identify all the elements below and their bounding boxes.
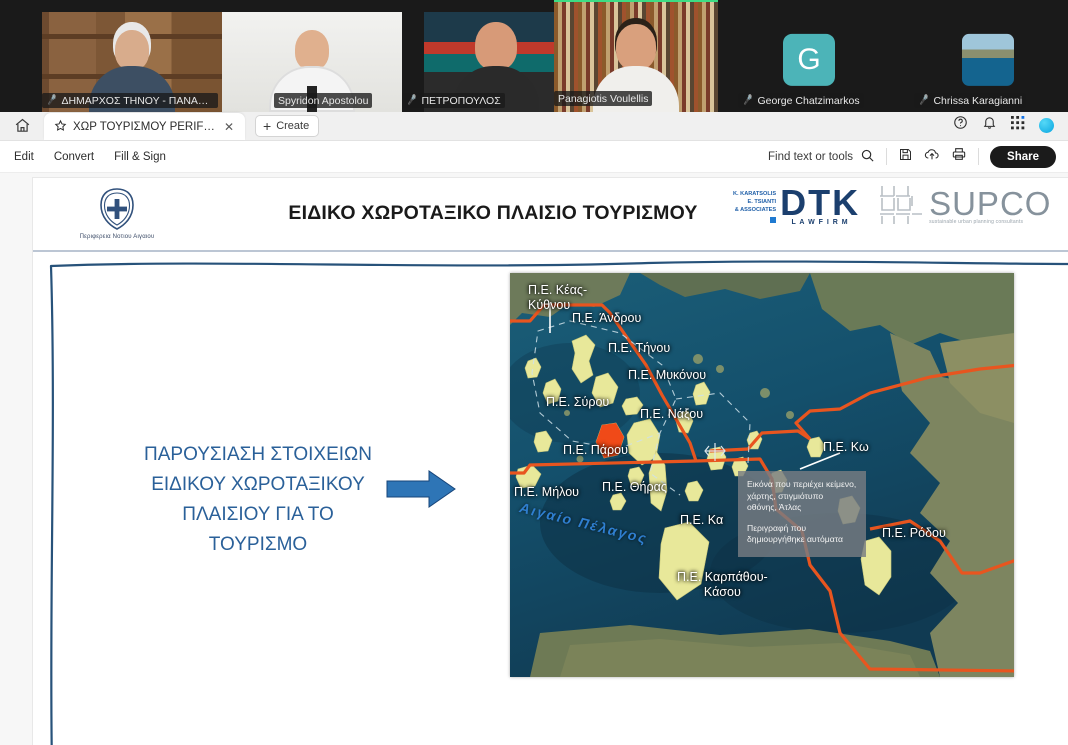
participant-tile[interactable]: 🎤 ΠΕΤΡΟΠΟΥΛΟΣ xyxy=(402,0,554,112)
participant-namebar: Spyridon Apostolou xyxy=(274,93,372,108)
participant-tile[interactable]: G 🎤 George Chatzimarkos xyxy=(718,0,900,112)
participant-namebar: 🎤 ΠΕΤΡΟΠΟΥΛΟΣ xyxy=(402,93,505,108)
participant-tile[interactable]: Spyridon Apostolou xyxy=(222,0,402,112)
aegean-map-image[interactable]: Π.Ε. Κέας-Κύθνου Π.Ε. Άνδρου Π.Ε. Τήνου … xyxy=(510,273,1014,677)
avatar: G xyxy=(783,34,835,86)
video-conference-strip: 🎤 ΔΗΜΑΡΧΟΣ ΤΗΝΟΥ - ΠΑΝΑΓΙΩΤ… Spyridon Ap… xyxy=(0,0,1068,112)
map-label: Π.Ε. Μήλου xyxy=(514,485,579,499)
dtk-line-2: E. TSIANTI xyxy=(733,198,776,206)
print-icon[interactable] xyxy=(951,146,967,167)
participant-namebar: 🎤 Chrissa Karagianni xyxy=(914,93,1026,108)
strip-left-gutter xyxy=(0,0,42,112)
star-icon[interactable] xyxy=(54,119,67,135)
toolbar-divider xyxy=(886,148,887,165)
crest-caption: Περιφερεια Νοτιου Αιγαιου xyxy=(78,234,156,240)
header-divider xyxy=(33,250,1068,252)
map-label: Π.Ε. Πάρου xyxy=(563,443,628,457)
map-label: Π.Ε. Σύρου xyxy=(546,395,609,409)
participant-name: George Chatzimarkos xyxy=(757,95,859,107)
greek-coat-of-arms: Περιφερεια Νοτιου Αιγαιου xyxy=(78,187,156,240)
pdf-page: Περιφερεια Νοτιου Αιγαιου ΕΙΔΙΚΟ ΧΩΡΟΤΑΞ… xyxy=(33,178,1068,745)
browser-tabbar: ΧΩΡ ΤΟΥΡΙΣΜΟΥ PERIF… ✕ + Create xyxy=(0,112,1068,141)
participant-tile-active[interactable]: Panagiotis Voulellis xyxy=(554,0,718,112)
cloud-upload-icon[interactable] xyxy=(924,146,940,167)
create-label: Create xyxy=(276,120,309,132)
create-button[interactable]: + Create xyxy=(255,115,319,137)
tool-edit[interactable]: Edit xyxy=(0,151,44,163)
home-icon[interactable] xyxy=(0,111,44,140)
tool-convert[interactable]: Convert xyxy=(44,151,104,163)
map-label: Π.Ε. Νάξου xyxy=(640,407,703,421)
mic-muted-icon: 🎤 xyxy=(744,95,753,106)
body-line: ΠΑΡΟΥΣΙΑΣΗ ΣΤΟΙΧΕΙΩΝ xyxy=(103,440,413,470)
map-label: Π.Ε. Μυκόνου xyxy=(628,368,706,382)
slide-header: Περιφερεια Νοτιου Αιγαιου ΕΙΔΙΚΟ ΧΩΡΟΤΑΞ… xyxy=(33,178,1068,250)
account-avatar[interactable] xyxy=(1039,118,1054,133)
image-alt-text-tooltip: Εικόνα που περιέχει κείμενο, χάρτης, στι… xyxy=(738,471,866,557)
save-icon[interactable] xyxy=(898,147,913,167)
body-line: ΠΛΑΙΣΙΟΥ ΓΙΑ ΤΟ xyxy=(103,500,413,530)
supcon-logo: SUPCO sustainable urban planning consult… xyxy=(878,184,1051,228)
participant-name: ΠΕΤΡΟΠΟΥΛΟΣ xyxy=(421,95,500,107)
participant-name: Panagiotis Voulellis xyxy=(558,93,648,105)
mic-muted-icon: 🎤 xyxy=(920,95,929,106)
participant-name: Spyridon Apostolou xyxy=(278,95,368,107)
tooltip-line: χάρτης, στιγμιότυπο xyxy=(747,491,857,503)
toolbar-divider xyxy=(978,148,979,165)
participant-namebar: 🎤 ΔΗΜΑΡΧΟΣ ΤΗΝΟΥ - ΠΑΝΑΓΙΩΤ… xyxy=(42,93,218,108)
dtk-line-1: K. KARATSOLIS xyxy=(733,190,776,198)
participant-tile[interactable]: 🎤 ΔΗΜΑΡΧΟΣ ΤΗΝΟΥ - ΠΑΝΑΓΙΩΤ… xyxy=(42,0,222,112)
participant-name: ΔΗΜΑΡΧΟΣ ΤΗΝΟΥ - ΠΑΝΑΓΙΩΤ… xyxy=(61,95,214,107)
mic-muted-icon: 🎤 xyxy=(408,95,417,106)
app-grid-icon[interactable] xyxy=(1011,116,1025,135)
pdf-viewer[interactable]: Περιφερεια Νοτιου Αιγαιου ΕΙΔΙΚΟ ΧΩΡΟΤΑΞ… xyxy=(0,173,1068,745)
map-label: Π.Ε. Τήνου xyxy=(608,341,670,355)
participant-tile[interactable]: 🎤 Chrissa Karagianni xyxy=(900,0,1068,112)
close-icon[interactable]: ✕ xyxy=(221,120,237,134)
map-label: Π.Ε. Ρόδου xyxy=(882,526,946,540)
help-icon[interactable] xyxy=(953,115,968,135)
participant-namebar: Panagiotis Voulellis xyxy=(554,91,652,106)
dtk-law-firm-logo: K. KARATSOLIS E. TSIANTI & ASSOCIATES DT… xyxy=(733,186,860,226)
tool-fill-sign[interactable]: Fill & Sign xyxy=(104,151,176,163)
slide-body-text: ΠΑΡΟΥΣΙΑΣΗ ΣΤΟΙΧΕΙΩΝ ΕΙΔΙΚΟΥ ΧΩΡΟΤΑΞΙΚΟΥ… xyxy=(103,440,413,560)
supcon-mark: SUPCO xyxy=(929,188,1051,219)
map-label: Π.Ε. Κα xyxy=(680,513,723,527)
find-label: Find text or tools xyxy=(768,151,853,163)
partner-logos: K. KARATSOLIS E. TSIANTI & ASSOCIATES DT… xyxy=(733,184,1051,228)
participant-namebar: 🎤 George Chatzimarkos xyxy=(738,93,864,108)
bell-icon[interactable] xyxy=(982,115,997,135)
body-line: ΕΙΔΙΚΟΥ ΧΩΡΟΤΑΞΙΚΟΥ xyxy=(103,470,413,500)
tooltip-line: δημιουργήθηκε αυτόματα xyxy=(747,534,857,546)
document-tab[interactable]: ΧΩΡ ΤΟΥΡΙΣΜΟΥ PERIF… ✕ xyxy=(44,113,245,140)
dtk-sub: L A W F I R M xyxy=(780,219,860,226)
body-line: ΤΟΥΡΙΣΜΟ xyxy=(103,530,413,560)
mic-muted-icon: 🎤 xyxy=(48,95,57,106)
map-label: Π.Ε. Κω xyxy=(823,440,869,454)
participant-name: Chrissa Karagianni xyxy=(933,95,1022,107)
dtk-mark: DTK xyxy=(780,186,860,219)
avatar xyxy=(962,34,1014,86)
right-arrow-shape xyxy=(385,468,457,515)
map-label: Π.Ε. Καρπάθου-Κάσου xyxy=(677,570,768,600)
find-text-or-tools[interactable]: Find text or tools xyxy=(768,148,875,166)
slide-title: ΕΙΔΙΚΟ ΧΩΡΟΤΑΞΙΚΟ ΠΛΑΙΣΙΟ ΤΟΥΡΙΣΜΟΥ xyxy=(183,202,803,225)
tab-title: ΧΩΡ ΤΟΥΡΙΣΜΟΥ PERIF… xyxy=(73,121,215,133)
map-label: Π.Ε. Κέας-Κύθνου xyxy=(528,283,587,313)
map-label: Π.Ε. Θήρας xyxy=(602,480,667,494)
tooltip-line: Εικόνα που περιέχει κείμενο, xyxy=(747,479,857,491)
tooltip-line: οθόνης, Άτλας xyxy=(747,502,857,514)
search-icon[interactable] xyxy=(860,148,875,166)
map-label: Π.Ε. Άνδρου xyxy=(572,311,641,325)
tooltip-line: Περιγραφή που xyxy=(747,523,857,535)
dtk-line-3: & ASSOCIATES xyxy=(733,206,776,214)
acrobat-toolbar: Edit Convert Fill & Sign Find text or to… xyxy=(0,141,1068,173)
plus-icon: + xyxy=(263,118,271,134)
share-button[interactable]: Share xyxy=(990,146,1056,168)
